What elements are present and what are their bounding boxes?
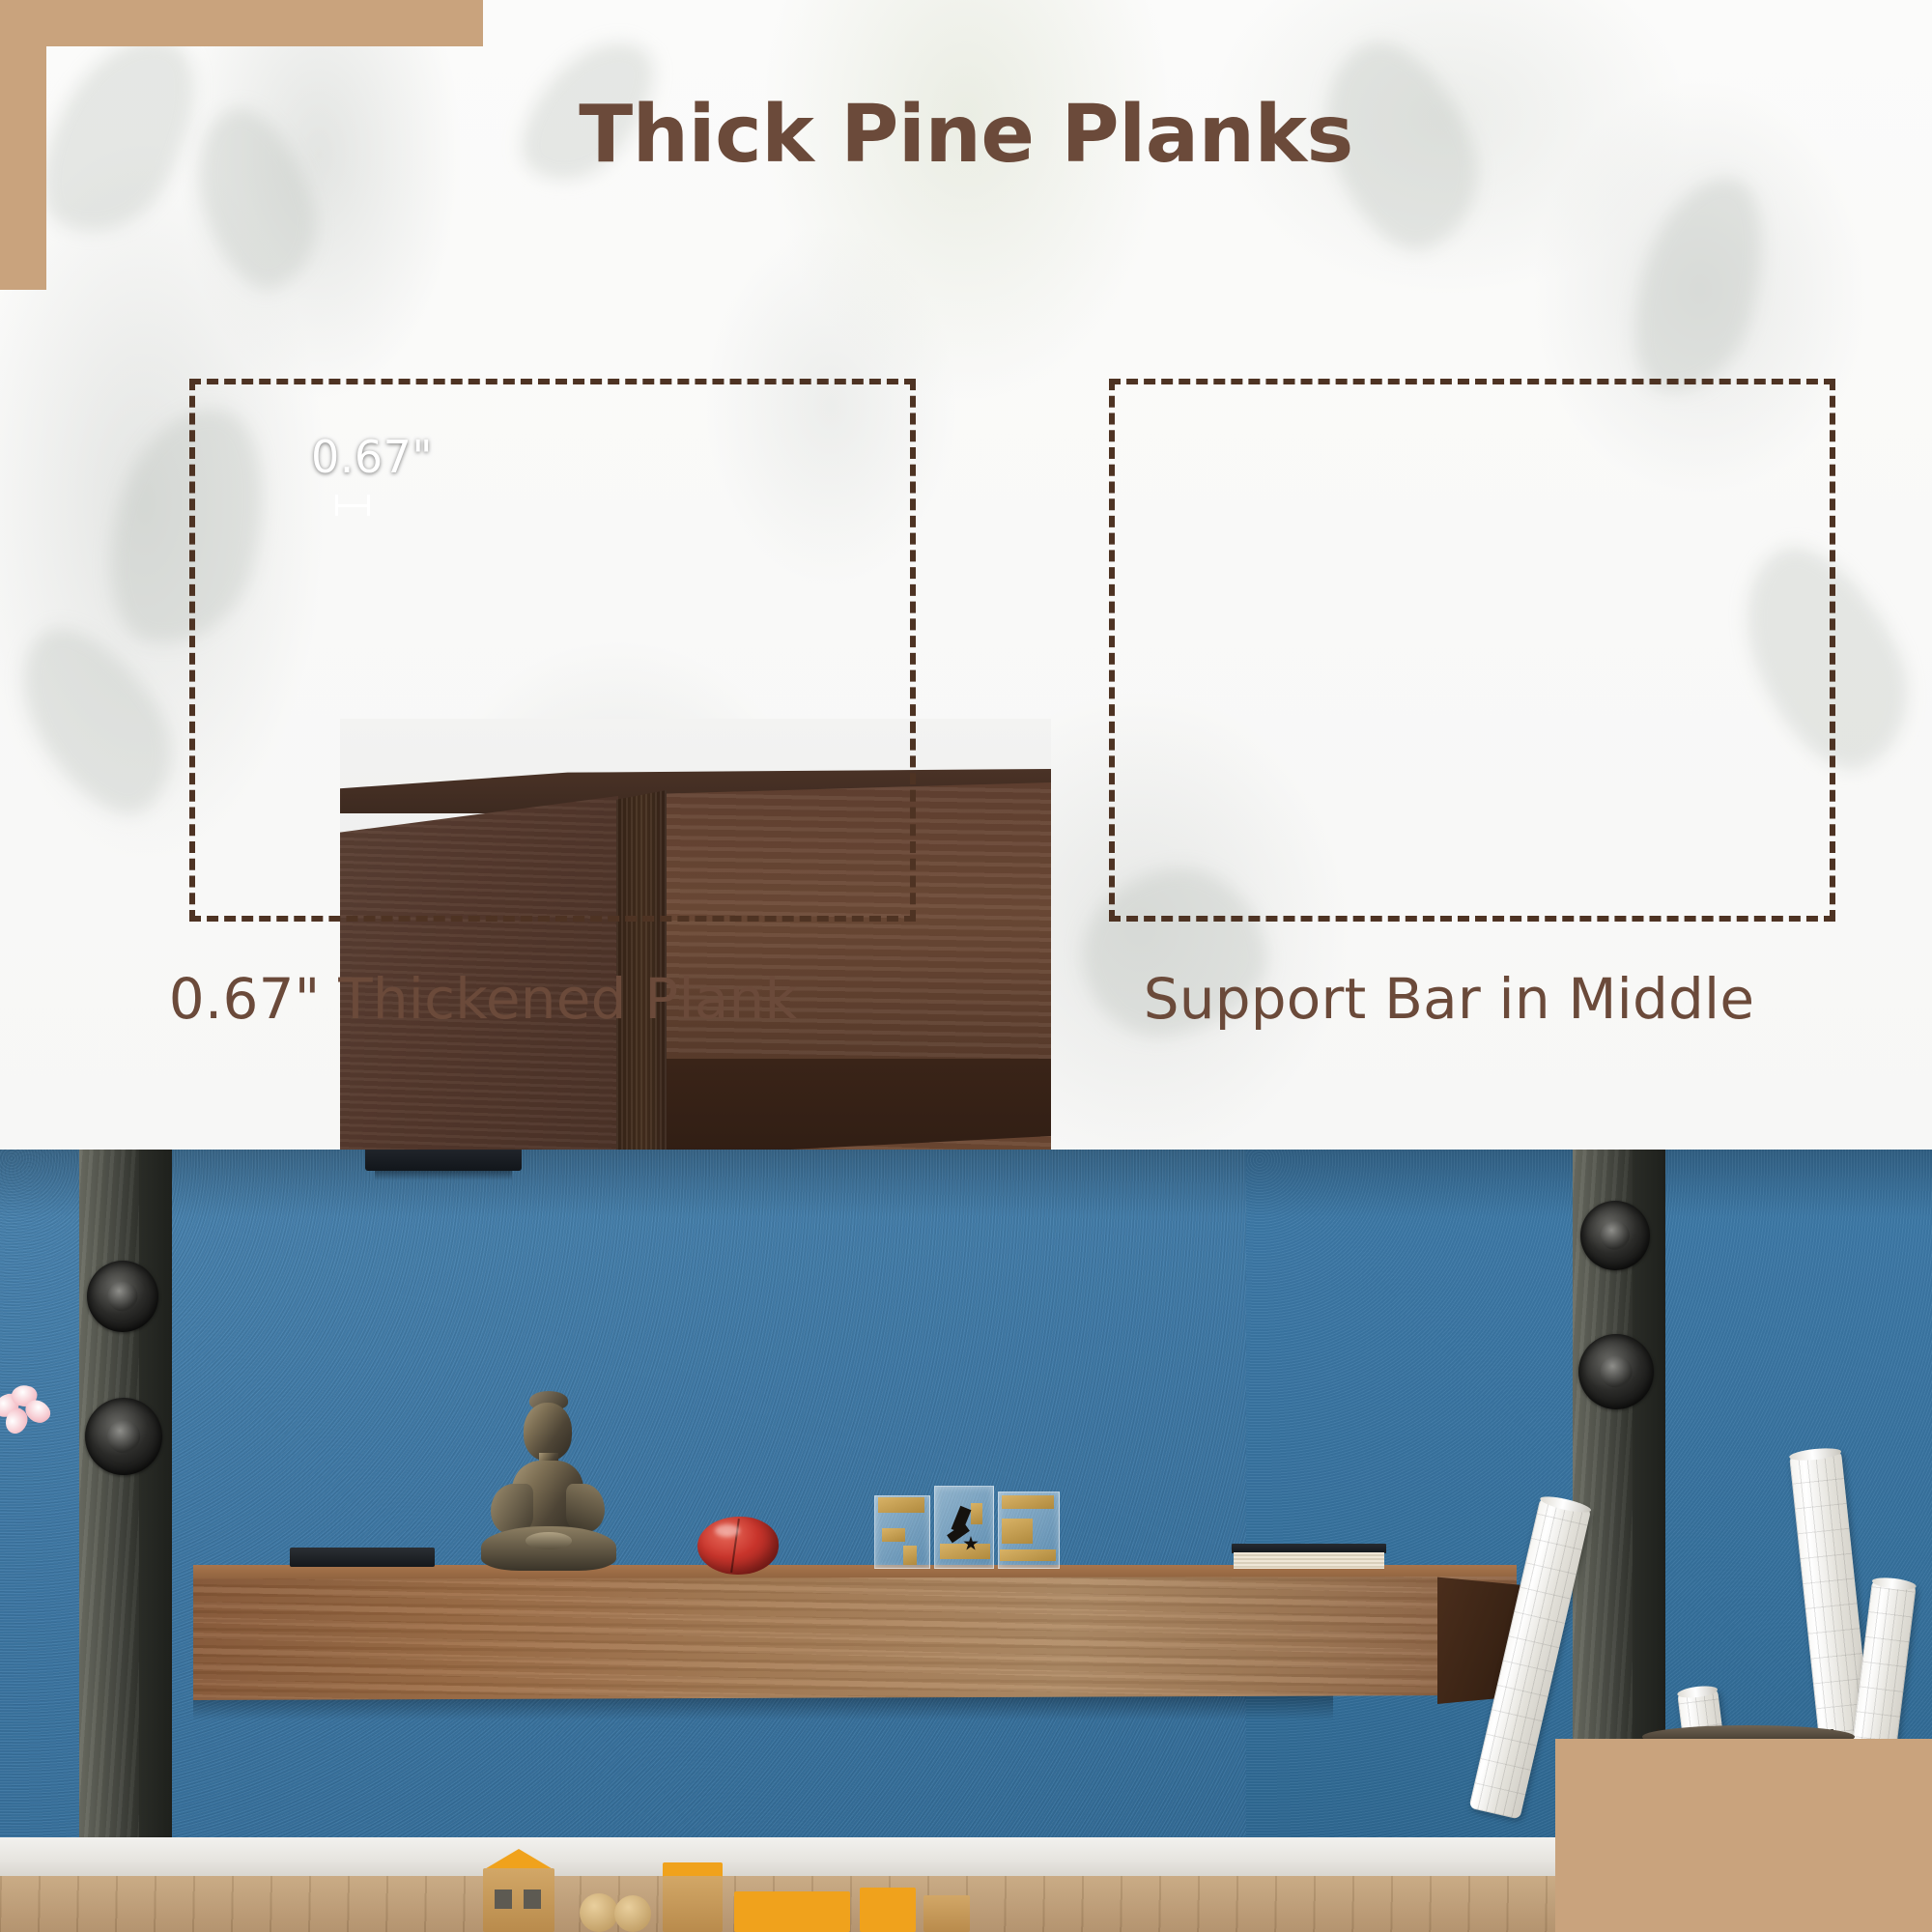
corner-accent-block [1555,1739,1932,1932]
tweeter-driver-icon [87,1261,158,1332]
glass-block-sculpture [874,1486,1067,1575]
closed-book [1232,1544,1386,1569]
corner-accent-horizontal [0,0,483,46]
dashed-frame-right-top [1109,379,1835,384]
woofer-driver-icon [1578,1334,1654,1409]
shelf-cavity [665,1059,1051,1150]
room-lifestyle-photo [0,1150,1932,1932]
toy-cube-block [860,1888,916,1932]
cherry-blossom-decor [0,1385,56,1435]
thickened-plank-photo [340,719,1051,1150]
tweeter-driver-icon [1580,1201,1650,1270]
dashed-frame-left-top [189,379,916,384]
woofer-driver-icon [85,1398,162,1475]
dashed-frame-left-right [910,379,916,922]
dashed-frame-right-right [1830,379,1835,922]
dashed-frame-left-left [189,379,195,922]
book-pages [1234,1552,1384,1569]
toy-cube-block [923,1895,970,1932]
toy-cube-block [663,1876,723,1932]
floating-wall-shelf [193,1565,1517,1700]
wall-mounted-bar [365,1150,522,1171]
toy-bar-block [734,1891,850,1932]
dashed-frame-right-left [1109,379,1115,922]
toy-ball-block [580,1893,657,1932]
dimension-callout-label: 0.67" [311,431,433,483]
feature-card-thickness [170,359,881,908]
shelf-front-face [193,1577,1517,1700]
black-device [290,1548,435,1567]
page-title: Thick Pine Planks [0,89,1932,181]
wall-mounted-bar-shadow [375,1171,512,1180]
dimension-marker-icon [335,495,370,516]
feature-caption-support-bar: Support Bar in Middle [966,966,1932,1032]
egg-highlight [715,1524,740,1537]
toy-house-block [483,1868,554,1932]
leaf-shadow-decor [1614,162,1787,408]
feature-card-support-bar [1090,375,1801,908]
dashed-frame-right-bottom [1109,916,1835,922]
dashed-frame-left-bottom [189,916,916,922]
buddha-statue [473,1391,618,1570]
features-panel: Thick Pine Planks 0.67" [0,0,1932,1150]
speaker-tower-left [79,1150,139,1879]
feature-caption-thickness: 0.67" Thickened Plank [0,966,966,1032]
